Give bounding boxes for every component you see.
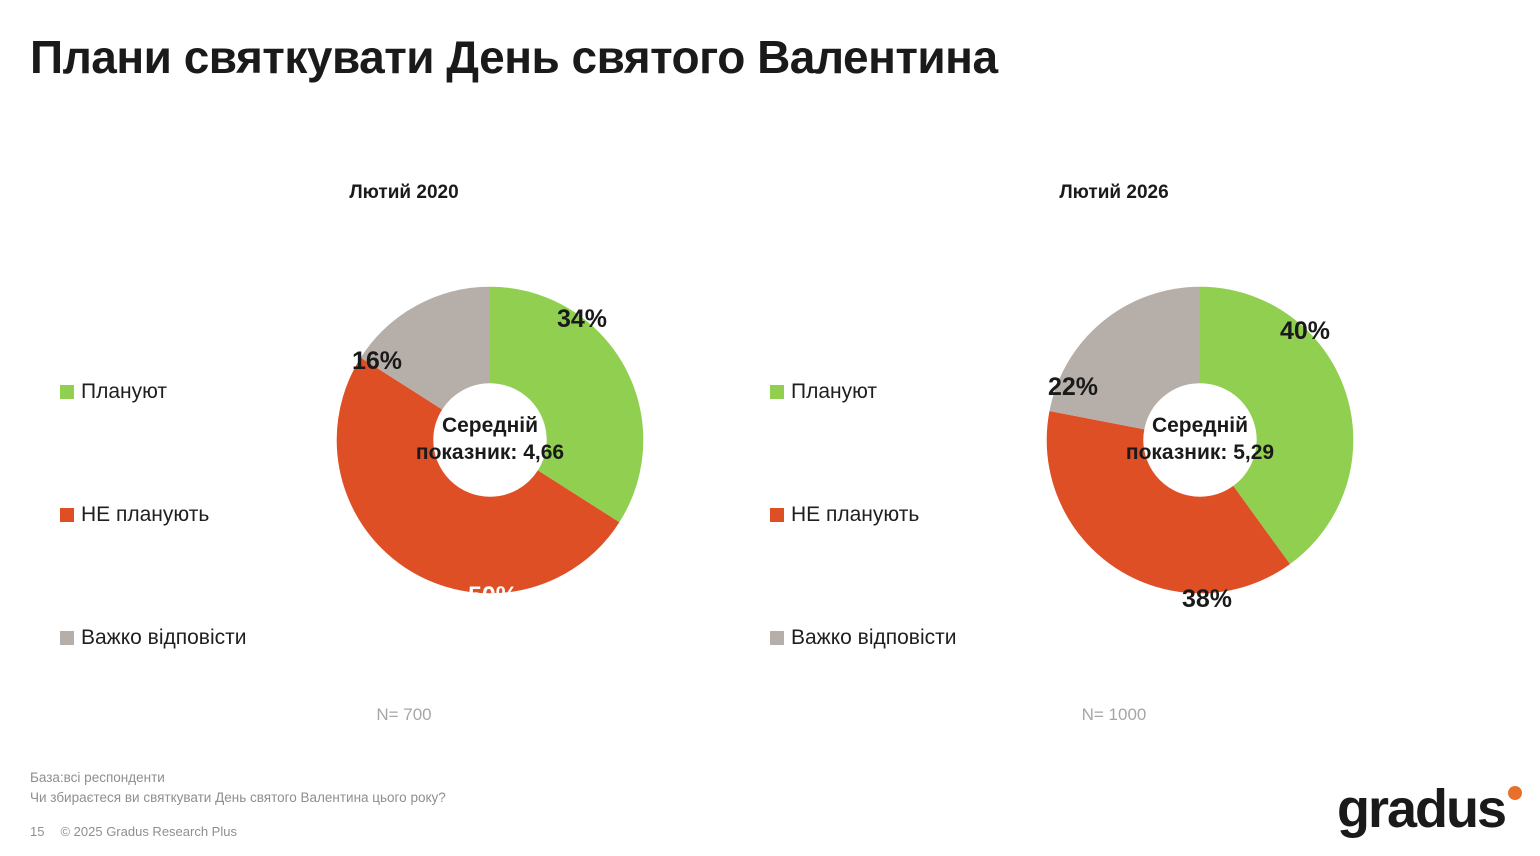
page-meta: 15 © 2025 Gradus Research Plus xyxy=(30,824,237,839)
legend-swatch-orange-icon xyxy=(60,508,74,522)
legend-label-hard-to-say: Важко відповісти xyxy=(81,626,246,650)
page-number: 15 xyxy=(30,824,44,839)
legend-2020: Плануют НЕ планують Важко відповісти xyxy=(60,330,300,699)
chart-title-2020: Лютий 2020 xyxy=(54,182,754,204)
legend-swatch-gray-icon xyxy=(770,631,784,645)
chart-title-2026: Лютий 2026 xyxy=(764,182,1464,204)
legend-swatch-gray-icon xyxy=(60,631,74,645)
page-title: Плани святкувати День святого Валентина xyxy=(30,30,998,84)
legend-label-planning: Плануют xyxy=(81,380,167,404)
sample-size-2020: N= 700 xyxy=(54,705,754,725)
footnote-question: Чи збираєтеся ви святкувати День святого… xyxy=(30,788,446,808)
logo-dot-icon xyxy=(1508,786,1522,800)
footnote-base: База:всі респонденти xyxy=(30,768,446,788)
legend-item-not-planning: НЕ планують xyxy=(770,453,1010,576)
chart-panel-2026: Лютий 2026 Плануют НЕ планують Важко від… xyxy=(740,170,1440,770)
legend-label-hard-to-say: Важко відповісти xyxy=(791,626,956,650)
donut-svg-2020 xyxy=(280,230,700,650)
donut-chart-2020: Середній показник: 4,66 34% 50% 16% xyxy=(280,230,700,650)
legend-item-hard-to-say: Важко відповісти xyxy=(60,576,300,699)
donut-chart-2026: Середній показник: 5,29 40% 38% 22% xyxy=(990,230,1410,650)
sample-size-2026: N= 1000 xyxy=(764,705,1464,725)
legend-item-planning: Плануют xyxy=(770,330,1010,453)
legend-item-planning: Плануют xyxy=(60,330,300,453)
legend-swatch-green-icon xyxy=(770,385,784,399)
chart-panel-2020: Лютий 2020 Плануют НЕ планують Важко від… xyxy=(30,170,730,770)
legend-label-not-planning: НЕ планують xyxy=(81,503,209,527)
gradus-logo: gradus xyxy=(1337,782,1522,836)
legend-swatch-orange-icon xyxy=(770,508,784,522)
copyright-notice: © 2025 Gradus Research Plus xyxy=(60,824,237,839)
legend-label-planning: Плануют xyxy=(791,380,877,404)
legend-item-not-planning: НЕ планують xyxy=(60,453,300,576)
footnotes: База:всі респонденти Чи збираєтеся ви св… xyxy=(30,768,446,807)
legend-item-hard-to-say: Важко відповісти xyxy=(770,576,1010,699)
legend-label-not-planning: НЕ планують xyxy=(791,503,919,527)
donut-svg-2026 xyxy=(990,230,1410,650)
logo-text: gradus xyxy=(1337,782,1505,836)
legend-swatch-green-icon xyxy=(60,385,74,399)
legend-2026: Плануют НЕ планують Важко відповісти xyxy=(770,330,1010,699)
